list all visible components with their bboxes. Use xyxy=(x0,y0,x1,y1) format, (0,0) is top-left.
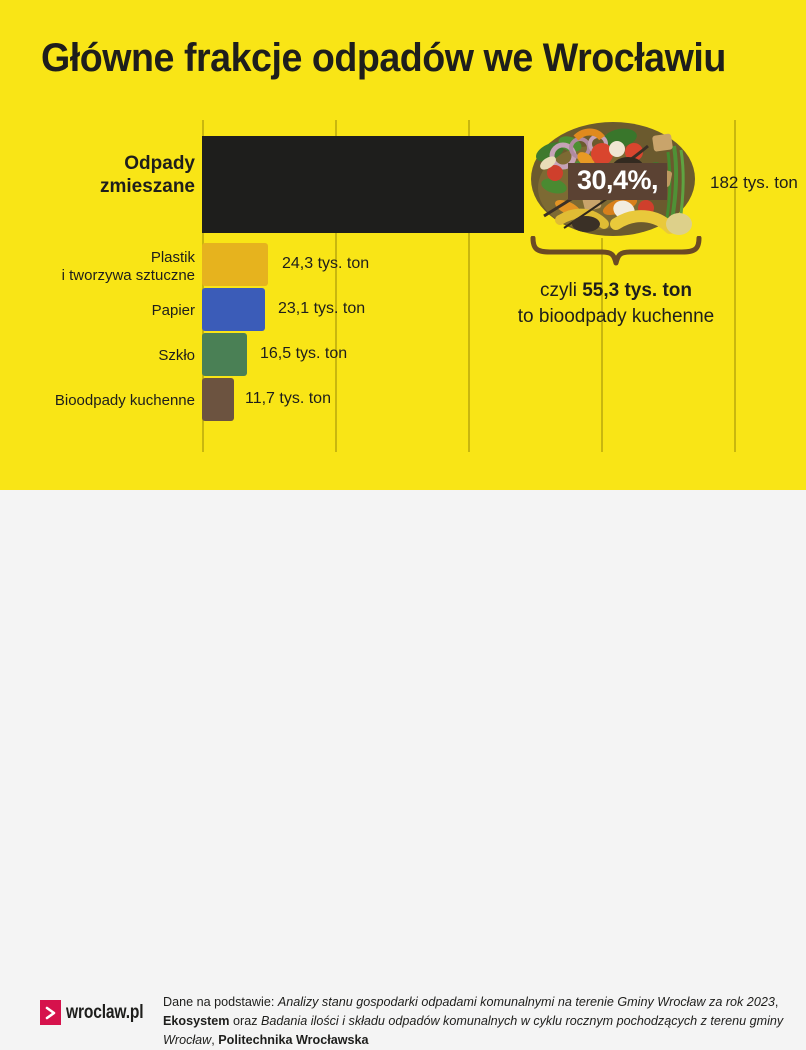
category-label-papier: Papier xyxy=(20,302,195,320)
category-label-bioodpady: Bioodpady kuchenne xyxy=(20,392,195,410)
wroclaw-pl-logo[interactable]: wroclaw.pl xyxy=(40,1000,160,1025)
chevron-right-icon xyxy=(40,1000,61,1025)
source-org-1: Ekosystem xyxy=(163,1014,230,1028)
curly-brace-shape xyxy=(530,236,702,266)
source-org-2: Politechnika Wrocławska xyxy=(218,1033,368,1047)
tick-mark-50 xyxy=(335,438,337,452)
callout-line2: to bioodpady kuchenne xyxy=(486,304,746,330)
source-separator-2: , xyxy=(211,1033,218,1047)
bar-szklo xyxy=(202,333,247,376)
category-label-line1: Odpady xyxy=(20,153,195,176)
brace-icon xyxy=(530,236,702,266)
value-label-papier: 23,1 tys. ton xyxy=(278,300,365,318)
source-conjunction: oraz xyxy=(230,1014,262,1028)
callout-prefix: czyli xyxy=(540,280,582,301)
value-label-bioodpady: 11,7 tys. ton xyxy=(245,390,331,408)
bar-bioodpady xyxy=(202,378,234,421)
category-label-line1: Plastik xyxy=(20,249,195,267)
bar-plastik xyxy=(202,243,268,286)
page-title: Główne frakcje odpadów we Wrocławiu xyxy=(41,36,726,81)
category-label-plastik: Plastik i tworzywa sztuczne xyxy=(20,249,195,285)
source-prefix: Dane na podstawie: xyxy=(163,995,278,1009)
chevron-right-glyph xyxy=(45,1006,57,1020)
tick-mark-200 xyxy=(734,438,736,452)
category-label-odpady-zmieszane: Odpady zmieszane xyxy=(20,153,195,199)
callout-line1: czyli 55,3 tys. ton xyxy=(486,278,746,304)
infographic-root: Główne frakcje odpadów we Wrocławiu 0 xyxy=(0,0,806,564)
footer-bar: wroclaw.pl Dane na podstawie: Analizy st… xyxy=(0,490,806,564)
value-label-plastik: 24,3 tys. ton xyxy=(282,255,369,273)
yellow-panel: Główne frakcje odpadów we Wrocławiu 0 xyxy=(0,0,806,490)
value-label-szklo: 16,5 tys. ton xyxy=(260,345,347,363)
category-label-szklo: Szkło xyxy=(20,347,195,365)
callout-bold-value: 55,3 tys. ton xyxy=(582,280,692,301)
callout-text: czyli 55,3 tys. ton to bioodpady kuchenn… xyxy=(486,278,746,329)
source-separator-1: , xyxy=(775,995,779,1009)
category-label-line2: zmieszane xyxy=(20,176,195,199)
tick-mark-150 xyxy=(601,438,603,452)
source-title-1: Analizy stanu gospodarki odpadami komuna… xyxy=(278,995,775,1009)
value-label-odpady-zmieszane: 182 tys. ton xyxy=(710,173,798,193)
logo-text: wroclaw.pl xyxy=(66,1002,143,1024)
percentage-callout-badge: 30,4%, xyxy=(568,163,667,200)
bar-papier xyxy=(202,288,265,331)
tick-mark-100 xyxy=(468,438,470,452)
tick-mark-0 xyxy=(202,438,204,452)
category-label-line2: i tworzywa sztuczne xyxy=(20,267,195,285)
source-attribution: Dane na podstawie: Analizy stanu gospoda… xyxy=(163,993,793,1050)
